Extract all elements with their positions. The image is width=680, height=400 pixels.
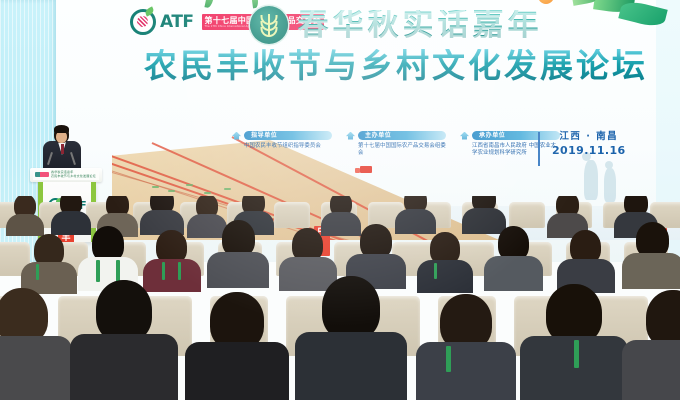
audience-shoulders	[6, 214, 44, 236]
lanyard	[434, 263, 437, 279]
lanyard	[96, 260, 100, 282]
audience-shoulders	[185, 342, 289, 400]
lectern-signage: 春华秋实话嘉年 农民丰收节与乡村文化发展论坛	[33, 170, 99, 180]
lanyard	[178, 262, 181, 280]
organizer-item: 承办单位 江西省南昌市人民政府 中国农业大学农业规划科学研究所	[460, 131, 560, 158]
organizer-name: 中国农民丰收节组织指导委员会	[244, 143, 332, 150]
chair	[509, 202, 545, 228]
event-place-date: 江西 · 南昌 2019.11.16	[552, 130, 626, 158]
lanyard	[574, 340, 579, 368]
audience-shoulders	[143, 259, 201, 292]
lanyard	[446, 346, 451, 372]
illustration-truck-icon	[360, 166, 372, 173]
organizer-item: 主办单位 第十七届中国国际农产品交易会组委会	[346, 131, 446, 158]
audience-shoulders	[484, 256, 543, 291]
audience-shoulders	[622, 253, 680, 289]
organizer-role-pill: 指导单位	[244, 131, 332, 140]
audience-shoulders	[70, 334, 178, 400]
audience-shoulders	[417, 260, 473, 293]
lanyard	[36, 264, 39, 280]
lectern-sign-line-2: 农民丰收节与乡村文化发展论坛	[51, 174, 96, 178]
chair	[274, 202, 310, 228]
audience-shoulders	[51, 211, 91, 235]
audience-shoulders	[395, 209, 436, 234]
harvest-festival-emblem-icon	[250, 6, 288, 44]
audience-shoulders	[462, 208, 506, 234]
audience-shoulders	[622, 340, 680, 400]
lectern-small-logo	[35, 172, 49, 177]
organizer-role-label: 主办单位	[365, 131, 391, 141]
speaker-hair	[54, 125, 69, 133]
audience-head	[96, 280, 152, 342]
organizer-name: 江西省南昌市人民政府 中国农业大学农业规划科学研究所	[472, 143, 560, 158]
organizer-header: 指导单位	[232, 131, 332, 140]
title-line-1: 春华秋实话嘉年	[298, 10, 543, 41]
event-date: 2019.11.16	[552, 144, 626, 158]
audience-shoulders	[321, 212, 361, 236]
audience-shoulders	[295, 332, 407, 400]
audience-shoulders	[187, 214, 227, 238]
audience-shoulders	[0, 336, 72, 400]
illustration-crop-mark	[168, 190, 175, 192]
illustration-crop-mark	[204, 192, 211, 194]
event-place: 江西 · 南昌	[552, 130, 626, 144]
lanyard	[162, 262, 165, 280]
title-line-1-row: 春华秋实话嘉年	[56, 6, 680, 44]
speaker-tie	[61, 144, 64, 154]
organizer-role-pill: 主办单位	[358, 131, 446, 140]
organizer-header: 承办单位	[460, 131, 560, 140]
illustration-crop-mark	[224, 188, 231, 190]
organizer-badge-icon	[346, 132, 355, 140]
audience-shoulders	[207, 252, 269, 288]
organizer-role-pill: 承办单位	[472, 131, 560, 140]
illustration-crop-mark	[186, 184, 193, 186]
organizer-badge-icon	[232, 132, 241, 140]
lanyard	[116, 260, 120, 282]
audience-head	[322, 276, 380, 340]
organizer-badge-icon	[460, 132, 469, 140]
conference-photo: ATF 第十七届中国国际农产品交易会 The 17th China Intern…	[0, 0, 680, 400]
audience-shoulders	[416, 342, 516, 400]
forum-title-block: 春华秋实话嘉年 农民丰收节与乡村文化发展论坛	[56, 0, 680, 82]
audience-head	[546, 284, 602, 344]
title-line-2: 农民丰收节与乡村文化发展论坛	[56, 49, 680, 82]
organizer-role-label: 承办单位	[479, 131, 505, 141]
organizer-list: 指导单位 中国农民丰收节组织指导委员会 主办单位 第十七届中国国际农产品交易会组…	[232, 131, 560, 158]
organizer-name: 第十七届中国国际农产品交易会组委会	[358, 143, 446, 158]
organizer-item: 指导单位 中国农民丰收节组织指导委员会	[232, 131, 332, 150]
organizer-header: 主办单位	[346, 131, 446, 140]
illustration-crop-mark	[152, 186, 159, 188]
audience-seating	[0, 196, 680, 400]
organizer-role-label: 指导单位	[251, 131, 277, 141]
